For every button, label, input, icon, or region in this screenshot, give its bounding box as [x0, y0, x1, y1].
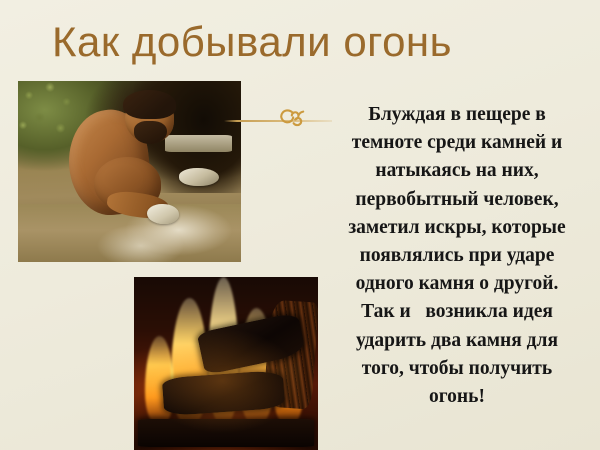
body-line: огонь! — [324, 383, 590, 411]
page-title: Как добывали огонь — [52, 18, 552, 66]
flint-stone-b — [179, 168, 219, 186]
presentation-slide: Как добывали огонь — [0, 0, 600, 450]
body-line: Блуждая в пещере в — [324, 101, 590, 129]
body-line: Так и возникла идея — [324, 298, 590, 326]
caveman-hair — [123, 90, 177, 119]
body-line: одного камня о другой. — [324, 270, 590, 298]
photo-caveman[interactable] — [18, 81, 241, 262]
body-line: заметил искры, которые — [324, 214, 590, 242]
body-line: того, чтобы получить — [324, 355, 590, 383]
photo-fire[interactable] — [134, 277, 318, 450]
floral-heart-ornament-icon — [276, 103, 312, 135]
body-line: ударить два камня для — [324, 327, 590, 355]
firewood-log-base — [138, 419, 315, 447]
flint-stone-a — [147, 204, 178, 224]
stone-slab — [165, 135, 232, 151]
body-paragraph: Блуждая в пещере в темноте среди камней … — [324, 101, 590, 411]
body-line: появлялись при ударе — [324, 242, 590, 270]
body-line: первобытный человек, — [324, 186, 590, 214]
body-line: натыкаясь на них, — [324, 157, 590, 185]
body-line: темноте среди камней и — [324, 129, 590, 157]
